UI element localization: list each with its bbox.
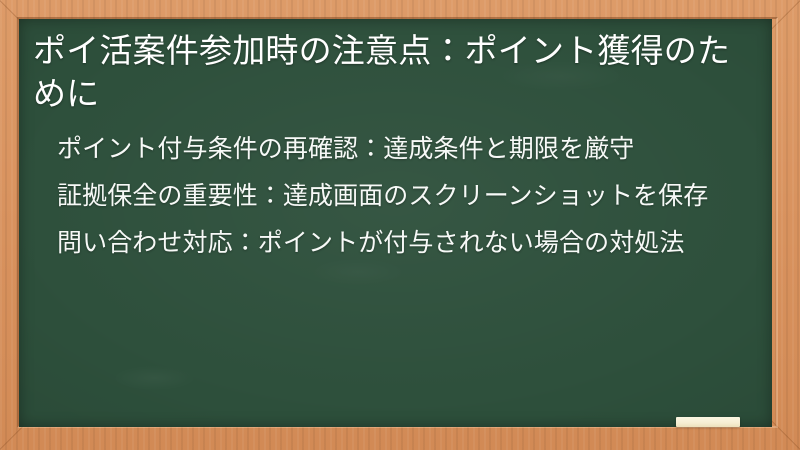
bullet-item-3: 問い合わせ対応：ポイントが付与されない場合の対処法 [33, 226, 752, 260]
board-content: ポイ活案件参加時の注意点：ポイント獲得のために ポイント付与条件の再確認：達成条… [19, 19, 772, 260]
chalkboard-slide: ポイ活案件参加時の注意点：ポイント獲得のために ポイント付与条件の再確認：達成条… [0, 0, 800, 450]
chalkboard-surface: ポイ活案件参加時の注意点：ポイント獲得のために ポイント付与条件の再確認：達成条… [19, 19, 772, 427]
bullet-item-2: 証拠保全の重要性：達成画面のスクリーンショットを保存 [33, 179, 752, 213]
slide-title: ポイ活案件参加時の注意点：ポイント獲得のために [33, 30, 752, 116]
bullet-list: ポイント付与条件の再確認：達成条件と期限を厳守 証拠保全の重要性：達成画面のスク… [33, 132, 752, 260]
chalk-stick [676, 417, 740, 427]
bullet-item-1: ポイント付与条件の再確認：達成条件と期限を厳守 [33, 132, 752, 166]
